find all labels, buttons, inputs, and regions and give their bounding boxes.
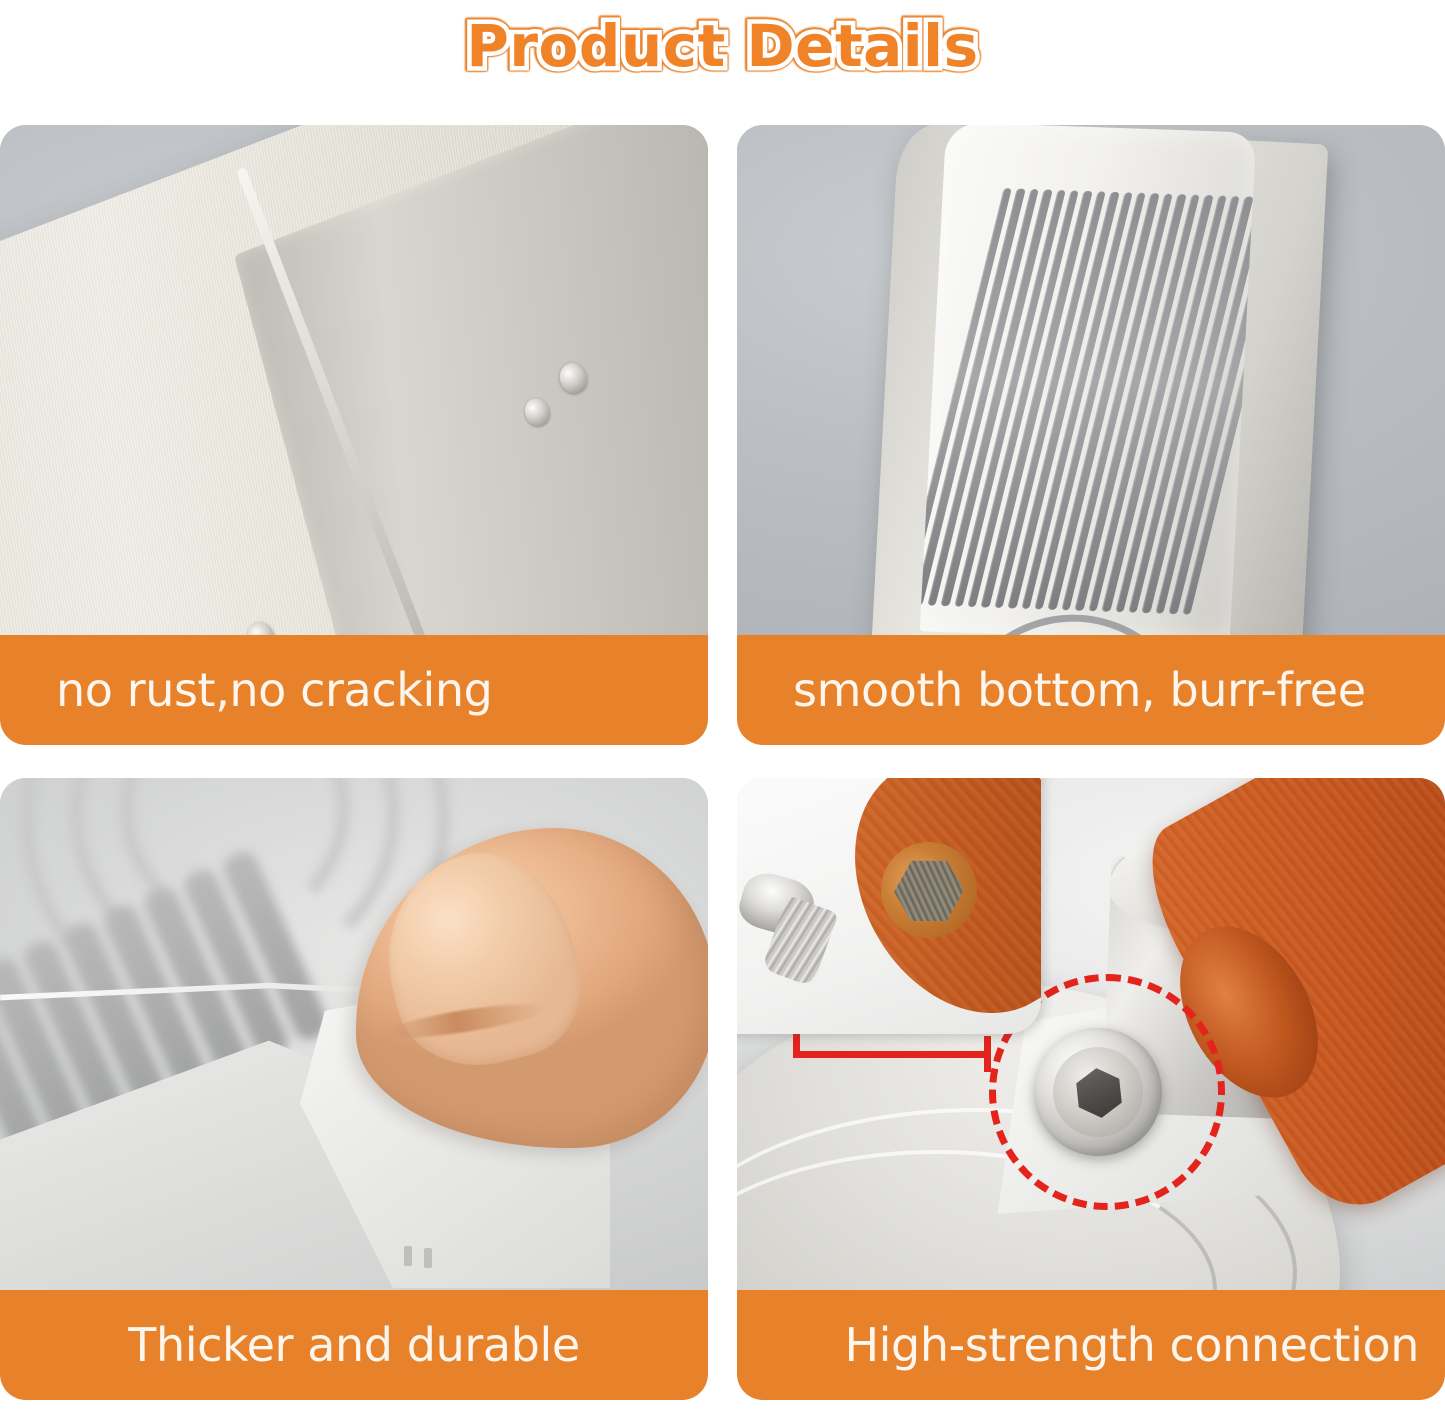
page-title-container: Product Details	[0, 6, 1445, 86]
page-title: Product Details	[466, 12, 978, 80]
panel-no-rust-photo	[0, 125, 708, 635]
panel-thicker-photo	[0, 778, 708, 1292]
panel-thicker-caption-text: Thicker and durable	[128, 1322, 579, 1368]
panel-thicker: Thicker and durable	[0, 778, 708, 1400]
panel-high-strength: High-strength connection	[737, 778, 1445, 1400]
panel-smooth-bottom: smooth bottom, burr-free	[737, 125, 1445, 745]
panel-no-rust-caption-bar: no rust,no cracking	[0, 635, 708, 745]
blade-notch	[404, 1246, 412, 1266]
product-details-infographic: Product Details no rust,no cracking	[0, 0, 1445, 1409]
panel-high-strength-caption-bar: High-strength connection	[737, 1290, 1445, 1400]
panel-thicker-caption-bar: Thicker and durable	[0, 1290, 708, 1400]
panel-smooth-bottom-photo	[737, 125, 1445, 635]
callout-line-tick	[984, 1036, 991, 1072]
panel-high-strength-caption-text: High-strength connection	[844, 1322, 1419, 1368]
panel-grid: no rust,no cracking	[0, 125, 1445, 1409]
panel-smooth-bottom-caption-bar: smooth bottom, burr-free	[737, 635, 1445, 745]
panel-high-strength-photo	[737, 778, 1445, 1292]
panel-no-rust: no rust,no cracking	[0, 125, 708, 745]
panel-no-rust-caption-text: no rust,no cracking	[56, 667, 492, 713]
blade-notch	[424, 1248, 432, 1268]
detail-inset-panel	[737, 778, 1041, 1034]
grill-fan-arc	[929, 608, 1214, 635]
callout-line-horizontal	[793, 1051, 991, 1058]
panel-smooth-bottom-caption-text: smooth bottom, burr-free	[793, 667, 1366, 713]
